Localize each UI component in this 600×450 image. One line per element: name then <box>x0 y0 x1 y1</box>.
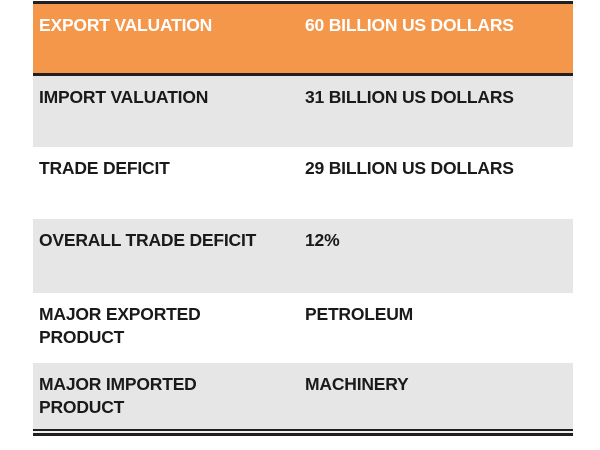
table-row-import-valuation[interactable]: IMPORT VALUATION 31 BILLION US DOLLARS <box>33 76 573 147</box>
table-row-trade-deficit[interactable]: TRADE DEFICIT 29 BILLION US DOLLARS <box>33 147 573 219</box>
row-label-major-exported-product: MAJOR EXPORTED PRODUCT <box>39 303 305 349</box>
row-label-export-valuation: EXPORT VALUATION <box>39 14 305 37</box>
row-label-overall-trade-deficit: OVERALL TRADE DEFICIT <box>39 229 305 252</box>
table-row-overall-trade-deficit[interactable]: OVERALL TRADE DEFICIT 12% <box>33 219 573 293</box>
row-value-major-exported-product: PETROLEUM <box>305 303 573 326</box>
row-value-trade-deficit: 29 BILLION US DOLLARS <box>305 157 573 180</box>
row-label-trade-deficit: TRADE DEFICIT <box>39 157 305 180</box>
row-value-import-valuation: 31 BILLION US DOLLARS <box>305 86 573 109</box>
trade-statistics-table: EXPORT VALUATION 60 BILLION US DOLLARS I… <box>33 1 573 436</box>
row-value-major-imported-product: MACHINERY <box>305 373 573 396</box>
row-value-overall-trade-deficit: 12% <box>305 229 573 252</box>
row-label-import-valuation: IMPORT VALUATION <box>39 86 305 109</box>
table-row-major-imported-product[interactable]: MAJOR IMPORTED PRODUCT MACHINERY <box>33 363 573 429</box>
row-value-export-valuation: 60 BILLION US DOLLARS <box>305 14 573 37</box>
table-bottom-rule-thick <box>33 433 573 436</box>
table-row-export-valuation[interactable]: EXPORT VALUATION 60 BILLION US DOLLARS <box>33 4 573 76</box>
table-row-major-exported-product[interactable]: MAJOR EXPORTED PRODUCT PETROLEUM <box>33 293 573 363</box>
page-root: EXPORT VALUATION 60 BILLION US DOLLARS I… <box>0 0 600 450</box>
row-label-major-imported-product: MAJOR IMPORTED PRODUCT <box>39 373 305 419</box>
